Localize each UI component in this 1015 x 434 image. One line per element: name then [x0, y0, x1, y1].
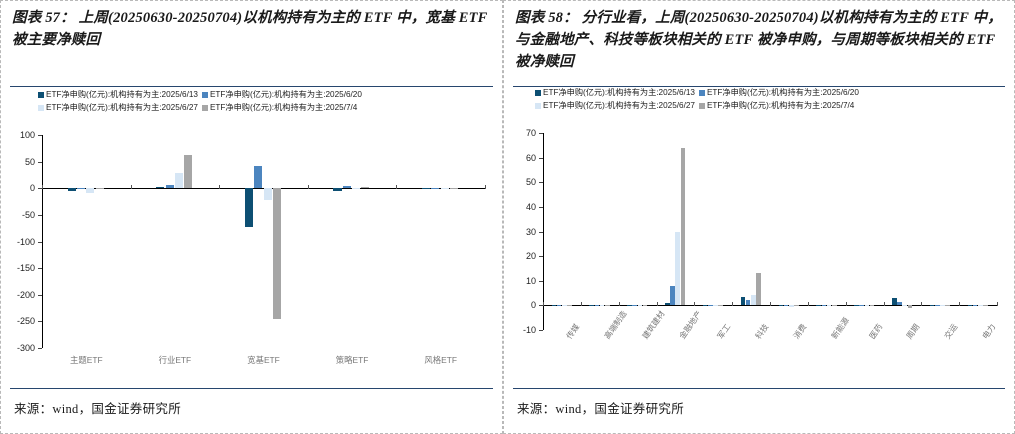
chart-bar	[973, 305, 978, 306]
legend-item[interactable]: ETF净申购(亿元):机构持有为主:2025/6/27	[535, 100, 695, 111]
chart-bar	[865, 305, 870, 306]
chart-bar	[264, 188, 272, 200]
x-axis-tick	[732, 302, 733, 306]
y-axis-tick-label: -50	[22, 210, 35, 220]
x-axis-category-label: 电力	[980, 322, 998, 341]
y-axis-tick	[539, 133, 543, 134]
legend-label: ETF净申购(亿元):机构持有为主:2025/6/13	[543, 87, 695, 98]
legend-item[interactable]: ETF净申购(亿元):机构持有为主:2025/7/4	[202, 102, 362, 113]
x-axis-category-label: 军工	[715, 322, 733, 341]
x-axis-tick	[657, 302, 658, 306]
chart-legend: ETF净申购(亿元):机构持有为主:2025/6/13ETF净申购(亿元):机构…	[535, 87, 859, 111]
legend-swatch-icon	[535, 103, 541, 109]
chart-bar	[627, 305, 632, 306]
chart-bar	[859, 305, 864, 306]
y-axis-line	[543, 133, 544, 330]
chart-bar	[870, 305, 875, 306]
exhibit-58-panel: 图表 58： 分行业看，上周(20250630-20250704)以机构持有为主…	[503, 0, 1015, 434]
chart-bar	[638, 305, 643, 306]
legend-label: ETF净申购(亿元):机构持有为主:2025/6/27	[543, 100, 695, 111]
chart-bar	[175, 173, 183, 188]
exhibit-57-panel: 图表 57： 上周(20250630-20250704)以机构持有为主的 ETF…	[0, 0, 503, 434]
legend-swatch-icon	[202, 105, 208, 111]
y-axis-tick-label: 70	[526, 128, 536, 138]
legend-item[interactable]: ETF净申购(亿元):机构持有为主:2025/6/27	[38, 102, 198, 113]
x-axis-tick	[219, 185, 220, 189]
x-axis-category-label: 高端制造	[602, 309, 629, 342]
x-axis-category-label: 主题ETF	[70, 354, 103, 366]
exhibit-pair: 图表 57： 上周(20250630-20250704)以机构持有为主的 ETF…	[0, 0, 1015, 434]
legend-swatch-icon	[699, 103, 705, 109]
y-axis-tick-label: -10	[523, 325, 536, 335]
y-axis-tick-label: 50	[526, 177, 536, 187]
chart-bar	[854, 305, 859, 306]
y-axis-tick-label: 0	[30, 183, 35, 193]
chart-bar	[968, 305, 973, 306]
x-axis-category-label: 科技	[753, 322, 771, 341]
chart-bar	[756, 273, 761, 305]
y-axis-tick-label: 20	[526, 251, 536, 261]
x-axis-tick	[543, 302, 544, 306]
chart-bar	[643, 305, 648, 306]
x-axis-tick	[808, 302, 809, 306]
y-axis-tick	[38, 135, 42, 136]
chart-bar	[816, 305, 821, 306]
y-axis-tick-label: 60	[526, 153, 536, 163]
chart-bar	[897, 302, 902, 305]
y-axis-tick	[38, 295, 42, 296]
x-axis-tick	[846, 302, 847, 306]
chart-bar	[779, 305, 784, 306]
y-axis-tick-label: -150	[17, 263, 35, 273]
legend-label: ETF净申购(亿元):机构持有为主:2025/7/4	[707, 100, 854, 111]
legend-label: ETF净申购(亿元):机构持有为主:2025/6/13	[46, 89, 198, 100]
legend-label: ETF净申购(亿元):机构持有为主:2025/6/20	[707, 87, 859, 98]
exhibit-57-caption: 图表 57： 上周(20250630-20250704)以机构持有为主的 ETF…	[0, 0, 503, 86]
chart-bar	[68, 188, 76, 190]
chart-bar	[681, 148, 686, 306]
chart-bar	[670, 286, 675, 306]
y-axis-tick-label: 40	[526, 202, 536, 212]
legend-item[interactable]: ETF净申购(亿元):机构持有为主:2025/6/13	[535, 87, 695, 98]
x-axis-category-label: 医药	[867, 322, 885, 341]
chart-bar	[254, 166, 262, 188]
chart-bar	[605, 305, 610, 306]
y-axis-tick-label: 10	[526, 276, 536, 286]
chart-bar	[665, 303, 670, 305]
exhibit-58-chart: ETF净申购(亿元):机构持有为主:2025/6/13ETF净申购(亿元):机构…	[513, 87, 1005, 388]
chart-bar	[832, 305, 837, 306]
exhibit-57-chart: ETF净申购(亿元):机构持有为主:2025/6/13ETF净申购(亿元):机构…	[10, 87, 493, 388]
x-axis-category-label: 建筑建材	[640, 309, 667, 342]
chart-bar	[741, 297, 746, 306]
chart-legend: ETF净申购(亿元):机构持有为主:2025/6/13ETF净申购(亿元):机构…	[38, 89, 362, 113]
chart-bar	[827, 305, 832, 306]
x-axis-tick	[485, 185, 486, 189]
chart-bar	[273, 188, 281, 318]
x-axis-tick	[884, 302, 885, 306]
chart-bar	[166, 185, 174, 188]
chart-bar	[450, 188, 458, 189]
chart-bar	[567, 305, 572, 306]
y-axis-tick	[539, 281, 543, 282]
chart-bar	[983, 305, 988, 306]
legend-item[interactable]: ETF净申购(亿元):机构持有为主:2025/6/20	[699, 87, 859, 98]
x-axis-tick	[396, 185, 397, 189]
x-axis-tick	[997, 302, 998, 306]
chart-bar	[930, 305, 935, 306]
chart-bar	[908, 305, 913, 308]
chart-bar	[552, 305, 557, 306]
y-axis-tick	[539, 232, 543, 233]
chart-bar	[822, 305, 827, 306]
source-block-left: 来源：wind，国金证券研究所	[0, 388, 503, 434]
chart-bar	[708, 305, 713, 306]
legend-item[interactable]: ETF净申购(亿元):机构持有为主:2025/6/13	[38, 89, 198, 100]
x-axis-category-label: 交运	[942, 322, 960, 341]
x-axis-tick	[959, 302, 960, 306]
x-axis-tick	[619, 302, 620, 306]
source-note-right: 来源：wind，国金证券研究所	[503, 389, 1015, 417]
x-axis-tick	[581, 302, 582, 306]
x-axis-tick	[694, 302, 695, 306]
x-axis-tick	[42, 185, 43, 189]
chart-bar	[333, 188, 341, 191]
chart-bar	[431, 188, 439, 189]
chart-bar	[789, 305, 794, 306]
chart-bar	[245, 188, 253, 227]
y-axis-tick-label: 30	[526, 227, 536, 237]
y-axis-tick-label: -250	[17, 316, 35, 326]
legend-swatch-icon	[38, 92, 44, 98]
chart-bar	[746, 300, 751, 305]
chart-bar	[600, 305, 605, 306]
y-axis-tick	[38, 215, 42, 216]
x-axis-category-label: 策略ETF	[336, 354, 369, 366]
x-axis-tick	[770, 302, 771, 306]
chart-bar	[77, 188, 85, 189]
chart-bar	[156, 187, 164, 188]
x-axis-category-label: 消费	[791, 322, 809, 341]
x-axis-tick	[308, 185, 309, 189]
y-axis-tick	[38, 321, 42, 322]
legend-label: ETF净申购(亿元):机构持有为主:2025/6/27	[46, 102, 198, 113]
x-axis-category-label: 传媒	[564, 322, 582, 341]
chart-bar	[751, 295, 756, 305]
legend-swatch-icon	[535, 90, 541, 96]
chart-bar	[557, 305, 562, 306]
y-axis-tick	[539, 207, 543, 208]
chart-bar	[945, 305, 950, 306]
exhibit-58-caption: 图表 58： 分行业看，上周(20250630-20250704)以机构持有为主…	[503, 0, 1015, 86]
y-axis-tick-label: 0	[531, 300, 536, 310]
chart-bar	[892, 298, 897, 305]
legend-label: ETF净申购(亿元):机构持有为主:2025/6/20	[210, 89, 362, 100]
chart-bar	[441, 188, 449, 189]
x-axis-tick	[921, 302, 922, 306]
y-axis-line	[42, 135, 43, 348]
legend-label: ETF净申购(亿元):机构持有为主:2025/7/4	[210, 102, 357, 113]
chart-bar	[96, 188, 104, 189]
chart-bar	[784, 305, 789, 306]
chart-bar	[940, 305, 945, 306]
x-axis-tick	[131, 185, 132, 189]
chart-bar	[718, 305, 723, 306]
legend-item[interactable]: ETF净申购(亿元):机构持有为主:2025/7/4	[699, 100, 859, 111]
x-axis-category-label: 风格ETF	[424, 354, 457, 366]
legend-item[interactable]: ETF净申购(亿元):机构持有为主:2025/6/20	[202, 89, 362, 100]
x-axis-category-label: 宽基ETF	[247, 354, 280, 366]
chart-bar	[632, 305, 637, 306]
x-axis-category-label: 周期	[904, 322, 922, 341]
chart-bar	[361, 187, 369, 188]
chart-bar	[184, 155, 192, 189]
legend-swatch-icon	[38, 105, 44, 111]
source-block-right: 来源：wind，国金证券研究所	[503, 388, 1015, 434]
chart-bar	[935, 305, 940, 306]
chart-bar	[675, 232, 680, 306]
x-axis-category-label: 金融地产	[677, 309, 704, 342]
chart-bar	[343, 186, 351, 188]
x-axis-category-label: 行业ETF	[159, 354, 192, 366]
chart-bar	[86, 188, 94, 192]
y-axis-tick	[38, 268, 42, 269]
chart-bar	[794, 305, 799, 306]
chart-bar	[902, 305, 907, 306]
y-axis-tick	[38, 162, 42, 163]
chart-bar	[978, 305, 983, 306]
legend-swatch-icon	[699, 90, 705, 96]
y-axis-tick	[539, 256, 543, 257]
legend-swatch-icon	[202, 92, 208, 98]
chart-bar	[713, 305, 718, 306]
y-axis-tick	[539, 158, 543, 159]
chart-bar	[422, 188, 430, 189]
y-axis-tick	[38, 348, 42, 349]
y-axis-tick	[38, 242, 42, 243]
y-axis-tick-label: 100	[20, 130, 35, 140]
y-axis-tick-label: 50	[25, 157, 35, 167]
y-axis-tick-label: -200	[17, 290, 35, 300]
chart-bar	[589, 305, 594, 306]
x-axis-category-label: 新能源	[829, 315, 852, 341]
chart-bar	[562, 305, 567, 306]
chart-bar	[703, 305, 708, 306]
y-axis-tick	[539, 182, 543, 183]
y-axis-tick	[539, 330, 543, 331]
y-axis-tick-label: -100	[17, 237, 35, 247]
chart-bar	[352, 188, 360, 189]
y-axis-tick-label: -300	[17, 343, 35, 353]
chart-bar	[595, 305, 600, 306]
source-note-left: 来源：wind，国金证券研究所	[0, 389, 503, 417]
